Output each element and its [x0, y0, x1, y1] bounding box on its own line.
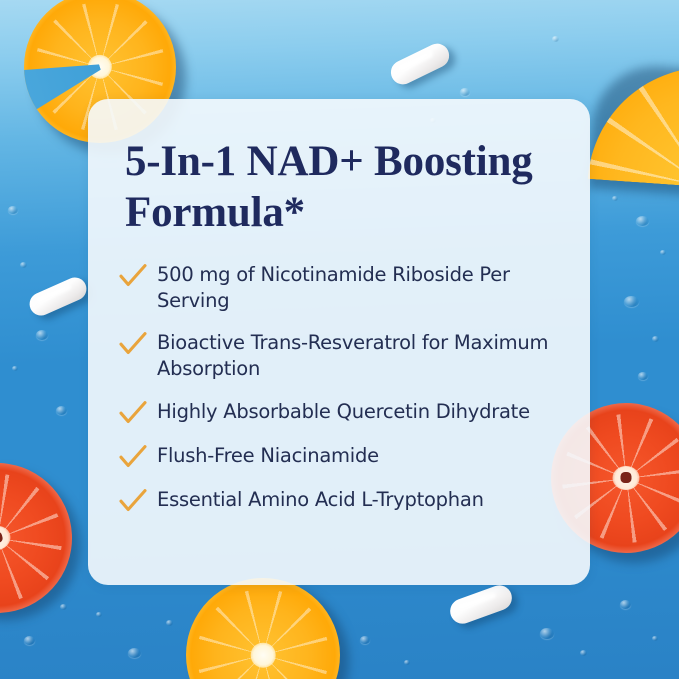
list-item: Essential Amino Acid L-Tryptophan — [118, 487, 568, 514]
capsule-pill-icon — [26, 274, 90, 319]
capsule-pill-icon — [447, 582, 516, 627]
check-icon — [118, 400, 148, 426]
check-icon — [118, 488, 148, 514]
promo-poster: 5-In-1 NAD+ Boosting Formula* 500 mg of … — [0, 0, 679, 679]
feature-list: 500 mg of Nicotinamide Riboside Per Serv… — [118, 262, 568, 514]
list-item: 500 mg of Nicotinamide Riboside Per Serv… — [118, 262, 568, 313]
list-item-label: Essential Amino Acid L-Tryptophan — [157, 487, 484, 513]
list-item-label: 500 mg of Nicotinamide Riboside Per Serv… — [157, 262, 568, 313]
list-item: Flush-Free Niacinamide — [118, 443, 568, 470]
grapefruit-half-icon — [0, 447, 88, 629]
orange-slice-icon — [186, 578, 340, 679]
check-icon — [118, 444, 148, 470]
list-item: Bioactive Trans-Resveratrol for Maximum … — [118, 330, 568, 381]
capsule-pill-icon — [387, 40, 453, 89]
page-title: 5-In-1 NAD+ Boosting Formula* — [125, 137, 555, 238]
check-icon — [118, 331, 148, 357]
list-item: Highly Absorbable Quercetin Dihydrate — [118, 399, 568, 426]
list-item-label: Bioactive Trans-Resveratrol for Maximum … — [157, 330, 568, 381]
check-icon — [118, 263, 148, 289]
list-item-label: Flush-Free Niacinamide — [157, 443, 379, 469]
list-item-label: Highly Absorbable Quercetin Dihydrate — [157, 399, 530, 425]
feature-card: 5-In-1 NAD+ Boosting Formula* 500 mg of … — [88, 99, 590, 585]
orange-wedge-icon — [582, 53, 679, 187]
